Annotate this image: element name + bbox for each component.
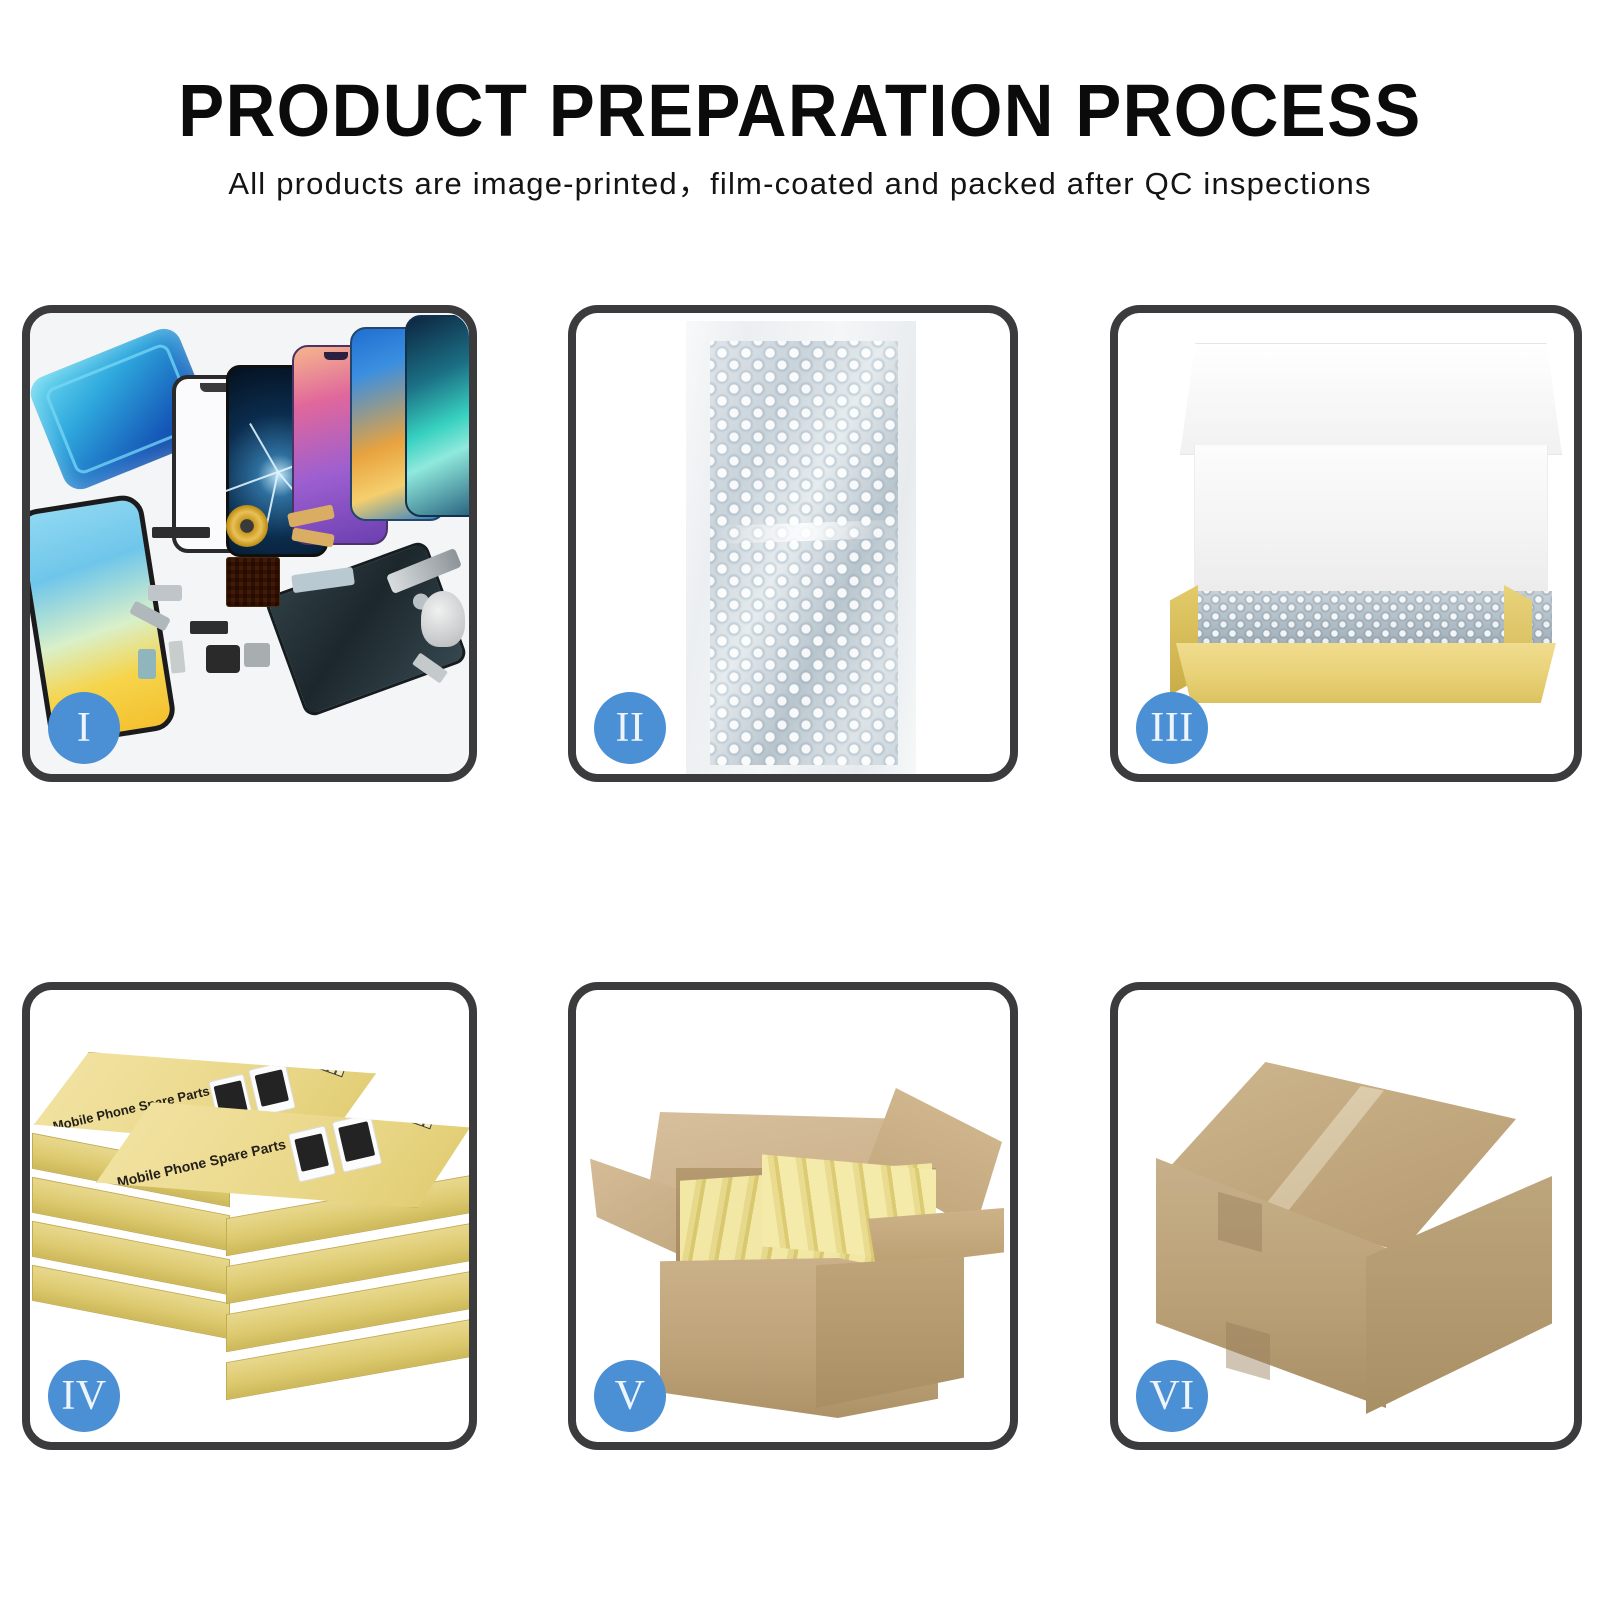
step-panel-5: V	[568, 982, 1018, 1450]
teal-phone-display	[405, 315, 469, 517]
box-screen-thumb-front-2	[332, 1113, 383, 1173]
vibration-motor-part	[206, 645, 240, 673]
speaker-strip-part	[152, 527, 210, 538]
box-interior-wall	[1194, 445, 1548, 597]
page-title: PRODUCT PREPARATION PROCESS	[56, 74, 1544, 148]
step-panel-6: VI	[1110, 982, 1582, 1450]
bubble-wrap-surface	[710, 341, 898, 765]
step-panel-2: II	[568, 305, 1018, 782]
page-header: PRODUCT PREPARATION PROCESS All products…	[0, 0, 1600, 260]
step-panel-3: III	[1110, 305, 1582, 782]
step-badge-6: VI	[1136, 1360, 1208, 1432]
cleaning-brush-part	[421, 591, 465, 647]
step-badge-4: IV	[48, 1360, 120, 1432]
page-subtitle: All products are image-printed，film-coat…	[0, 168, 1600, 199]
sim-tray-part	[138, 649, 156, 679]
small-part-c	[190, 621, 228, 634]
box-lid-back-panel	[1180, 343, 1562, 455]
step-badge-1: I	[48, 692, 120, 764]
box-front-wall	[1176, 643, 1556, 703]
bubble-wrapped-contents	[1190, 591, 1552, 649]
box-screen-thumb-front-1	[288, 1125, 336, 1182]
box-screen-thumb-rear-2	[248, 1061, 296, 1116]
small-part-a	[148, 585, 182, 601]
step-panel-4: Mobile Phone Spare Parts LCD Digitizer T…	[22, 982, 477, 1450]
step-panel-1: I	[22, 305, 477, 782]
step-badge-5: V	[594, 1360, 666, 1432]
step-badge-3: III	[1136, 692, 1208, 764]
box-brand-label-front: Mobile Phone Spare Parts	[115, 1136, 287, 1190]
step-badge-2: II	[594, 692, 666, 764]
logic-chip-part	[226, 557, 280, 607]
speaker-module-part	[244, 643, 270, 667]
wireless-charging-coil-part	[226, 505, 268, 547]
